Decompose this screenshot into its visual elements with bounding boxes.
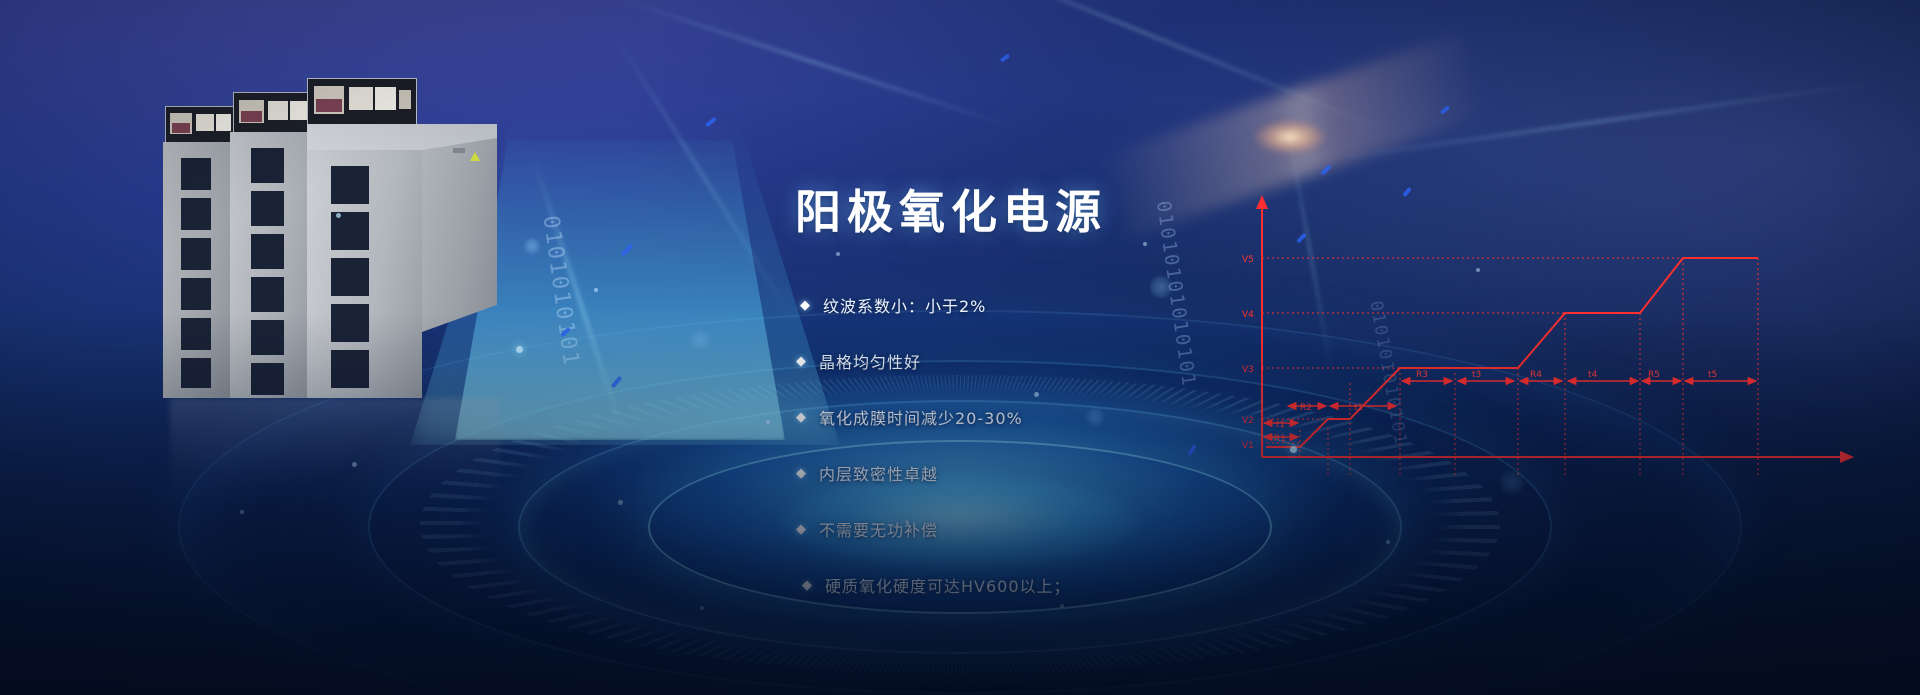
chart-label-t5: t5 — [1708, 370, 1717, 380]
cabinet-back-door-3 — [181, 238, 211, 270]
page-title: 阳极氧化电源 — [795, 176, 1107, 242]
particle — [1476, 268, 1480, 272]
chart-label-r5: R5 — [1648, 370, 1660, 380]
particle — [240, 510, 244, 514]
chart-x-gridlines — [1300, 258, 1758, 475]
feature-text: 晶格均匀性好 — [819, 349, 921, 373]
diamond-bullet-icon: ◆ — [802, 579, 813, 592]
feature-item: ◆ 不需要无功补偿 — [796, 514, 1316, 544]
cabinet-back-keypad — [172, 123, 190, 133]
chart-ytick-v5: V5 — [1242, 255, 1254, 265]
cabinet-middle-keypad — [241, 111, 262, 122]
promo-banner: 0101010101 01010101010101 010101010101 — [0, 0, 1920, 695]
particle — [1143, 242, 1147, 246]
cabinet-middle-label-b — [290, 101, 307, 120]
chart-label-t3: t3 — [1472, 370, 1481, 380]
particle — [836, 252, 840, 256]
particle — [594, 288, 598, 292]
cabinet-back-door-1 — [181, 158, 211, 190]
cabinet-front-door-4 — [331, 304, 369, 342]
particle — [516, 346, 523, 353]
cabinet-front-keypad — [316, 99, 342, 112]
cabinet-front — [307, 78, 497, 398]
diamond-bullet-icon: ◆ — [796, 467, 807, 480]
cabinet-back-door-5 — [181, 318, 211, 350]
voltage-profile-chart: V1 V2 V3 V4 V5 — [1240, 185, 1880, 485]
chart-label-t4: t4 — [1588, 370, 1598, 380]
particle — [352, 462, 357, 467]
feature-item: ◆ 硬质氧化硬度可达HV600以上； — [802, 570, 1316, 600]
bokeh-particle — [524, 238, 540, 254]
chart-dimension-arrows — [1264, 381, 1756, 437]
cabinet-reflection — [170, 398, 500, 508]
particle — [700, 606, 704, 610]
cabinet-front-warning-icon — [470, 152, 480, 161]
diamond-bullet-icon: ◆ — [800, 299, 811, 312]
cabinet-front-brand-mark — [453, 148, 465, 153]
cabinet-front-label-b — [375, 87, 396, 110]
cabinet-middle-door-1 — [251, 148, 284, 183]
cabinet-back-label-a — [196, 114, 214, 131]
cabinet-front-door-5 — [331, 350, 369, 388]
cabinet-middle-label-a — [268, 101, 288, 120]
cabinet-middle-door-5 — [251, 320, 284, 355]
feature-item: ◆ 晶格均匀性好 — [796, 346, 1316, 376]
chart-label-r3: R3 — [1416, 370, 1428, 380]
cabinet-front-meter — [399, 90, 411, 109]
anodizing-power-supply-cabinets — [165, 78, 495, 398]
cabinet-back-door-4 — [181, 278, 211, 310]
particle — [336, 213, 341, 218]
cabinet-back-door-6 — [181, 358, 211, 388]
cabinet-middle-door-3 — [251, 234, 284, 269]
bokeh-particle — [1500, 470, 1524, 494]
feature-text: 氧化成膜时间减少20-30% — [819, 405, 1023, 429]
cabinet-back-door-2 — [181, 198, 211, 230]
chart-label-t2: t2 — [1354, 403, 1363, 413]
diamond-bullet-icon: ◆ — [796, 355, 807, 368]
bokeh-particle — [690, 330, 710, 350]
feature-text: 不需要无功补偿 — [819, 517, 938, 541]
cabinet-front-door-1 — [331, 166, 369, 204]
light-beam — [455, 140, 785, 440]
diamond-bullet-icon: ◆ — [796, 411, 807, 424]
particle — [1386, 540, 1390, 544]
particle — [618, 500, 623, 505]
chart-voltage-profile-line — [1266, 258, 1758, 447]
cabinet-front-side-face — [422, 138, 497, 332]
feature-text: 纹波系数小：小于2% — [823, 293, 986, 317]
feature-text: 内层致密性卓越 — [819, 461, 938, 485]
feature-item: ◆ 内层致密性卓越 — [796, 458, 1316, 488]
feature-list: ◆ 纹波系数小：小于2% ◆ 晶格均匀性好 ◆ 氧化成膜时间减少20-30% ◆… — [796, 290, 1316, 626]
cabinet-middle-door-4 — [251, 277, 284, 312]
chart-y-gridlines — [1262, 258, 1758, 443]
chart-label-r4: R4 — [1530, 370, 1542, 380]
cabinet-front-door-3 — [331, 258, 369, 296]
cabinet-front-label-a — [349, 87, 373, 110]
feature-item: ◆ 氧化成膜时间减少20-30% — [796, 402, 1316, 432]
feature-item: ◆ 纹波系数小：小于2% — [800, 290, 1316, 320]
cabinet-middle-door-6 — [251, 363, 284, 395]
feature-text: 硬质氧化硬度可达HV600以上； — [825, 573, 1071, 597]
cabinet-back-label-b — [216, 114, 231, 131]
particle — [766, 420, 770, 424]
cabinet-middle-door-2 — [251, 191, 284, 226]
lens-flare-core — [1255, 120, 1325, 154]
diamond-bullet-icon: ◆ — [796, 523, 807, 536]
